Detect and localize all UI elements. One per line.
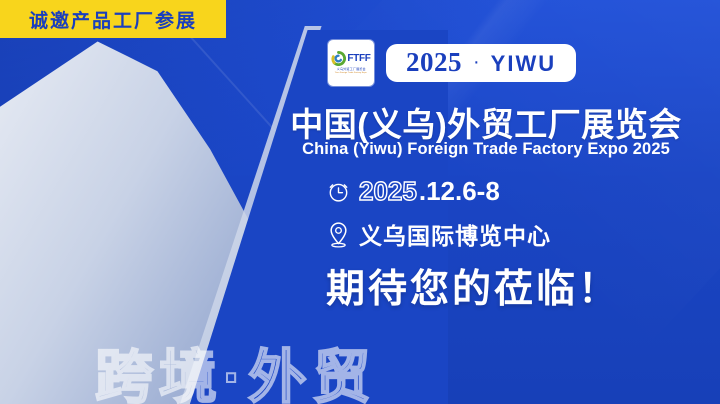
poster-content: FTFF 义乌外贸工厂展览会 Yiwu Foreign Trade Factor… xyxy=(250,0,720,404)
title-english: China (Yiwu) Foreign Trade Factory Expo … xyxy=(256,140,716,159)
title-chinese: 中国(义乌)外贸工厂展览会 xyxy=(256,98,716,146)
event-venue-label: 义乌国际博览中心 xyxy=(359,217,551,251)
event-month-day: .12.6-8 xyxy=(419,176,500,207)
event-venue-line: 义乌国际博览中心 xyxy=(326,217,551,251)
logo-en-name: Yiwu Foreign Trade Factory Expo xyxy=(335,73,367,75)
invitation-ribbon: 诚邀产品工厂参展 xyxy=(0,0,226,38)
badge-separator: · xyxy=(473,52,480,72)
invitation-ribbon-label: 诚邀产品工厂参展 xyxy=(29,6,197,33)
logo-mark: FTFF xyxy=(331,51,370,66)
location-pin-icon xyxy=(326,221,351,248)
logo-arc-icon xyxy=(331,51,346,66)
logo-and-year-row: FTFF 义乌外贸工厂展览会 Yiwu Foreign Trade Factor… xyxy=(328,40,576,86)
badge-year: 2025 xyxy=(406,49,462,76)
expo-poster: 诚邀产品工厂参展 FTFF 义乌外贸工厂展览会 Yiwu Foreign Tra… xyxy=(0,0,720,404)
ftff-logo-icon: FTFF 义乌外贸工厂展览会 Yiwu Foreign Trade Factor… xyxy=(328,40,374,86)
logo-abbr: FTFF xyxy=(347,54,370,64)
badge-city: YIWU xyxy=(491,53,556,75)
clock-icon xyxy=(326,179,351,204)
event-year: 2025 xyxy=(359,176,417,207)
welcome-slogan: 期待您的莅临！ xyxy=(326,258,620,314)
year-city-badge: 2025 · YIWU xyxy=(386,44,576,82)
event-date-line: 2025 .12.6-8 xyxy=(326,176,500,207)
